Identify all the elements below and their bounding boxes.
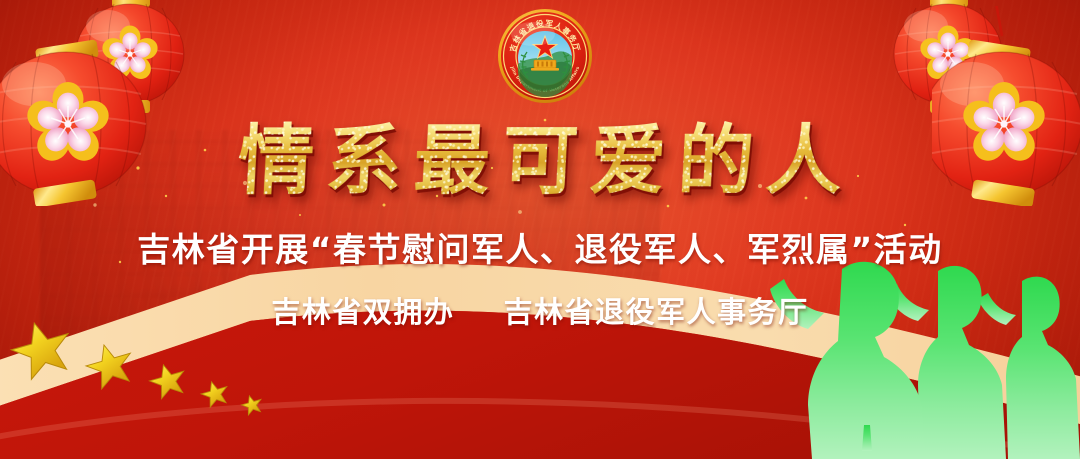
jilin-veterans-affairs-emblem: 吉林省退役军人事务厅 Jilin Department of Veterans … xyxy=(497,8,593,104)
saluting-soldiers-silhouette-group xyxy=(760,229,1080,459)
banner-root: 吉林省退役军人事务厅 Jilin Department of Veterans … xyxy=(0,0,1080,459)
lantern-left-front xyxy=(0,6,158,206)
lantern-right-front xyxy=(932,6,1080,206)
